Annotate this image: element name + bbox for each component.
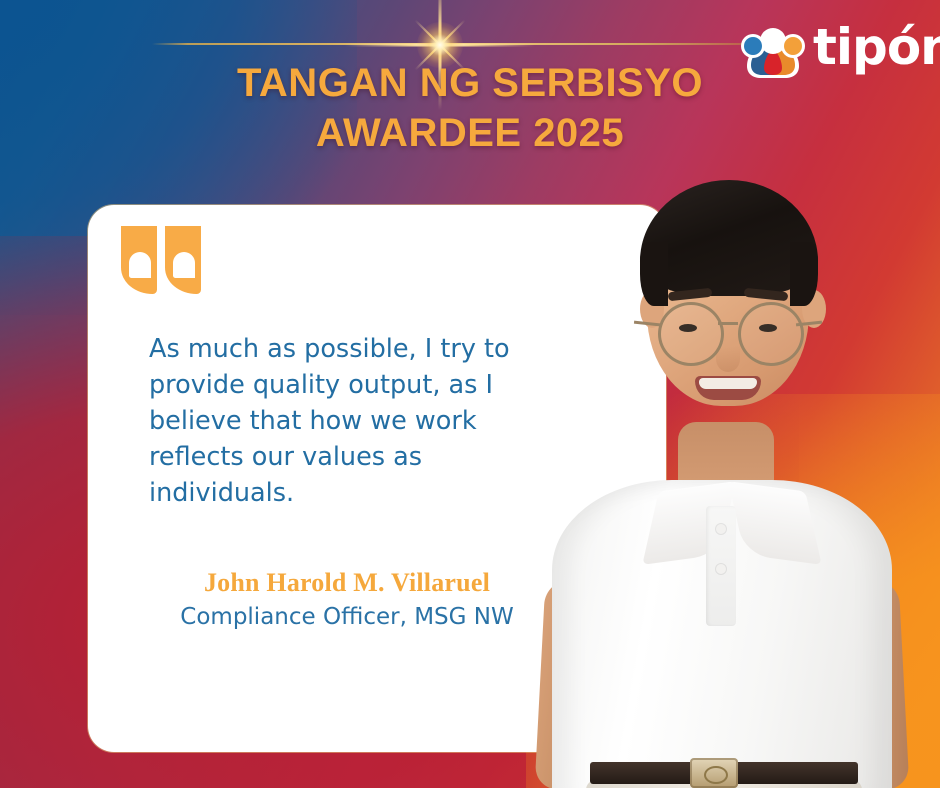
person-belt-buckle [690, 758, 738, 788]
award-poster: TANGAN NG SERBISYO AWARDEE 2025 tipón As… [0, 0, 940, 788]
person-shirt-button-1 [716, 524, 726, 534]
headline-line-1: TANGAN NG SERBISYO [237, 61, 703, 105]
quote-mark-right [165, 226, 201, 294]
awardee-role: Compliance Officer, MSG NW [88, 604, 606, 630]
person-teeth [699, 378, 757, 389]
person-nose [716, 346, 740, 372]
quote-mark-left [121, 226, 157, 294]
brand-logo[interactable]: tipón [737, 22, 917, 82]
person-eyeglass-lens-right [738, 302, 804, 366]
quote-text: As much as possible, I try to provide qu… [149, 331, 547, 511]
person-mouth [695, 376, 761, 400]
awardee-photo [530, 150, 940, 788]
person-hair [640, 180, 818, 296]
brand-wordmark: tipón [813, 18, 940, 76]
person-shirt-button-2 [716, 564, 726, 574]
person-eyeglass-bridge [718, 322, 738, 325]
tipon-people-icon [737, 24, 809, 80]
person-eyeglass-lens-left [658, 302, 724, 366]
quote-mark-icon [121, 226, 201, 294]
awardee-name: John Harold M. Villaruel [88, 568, 606, 598]
